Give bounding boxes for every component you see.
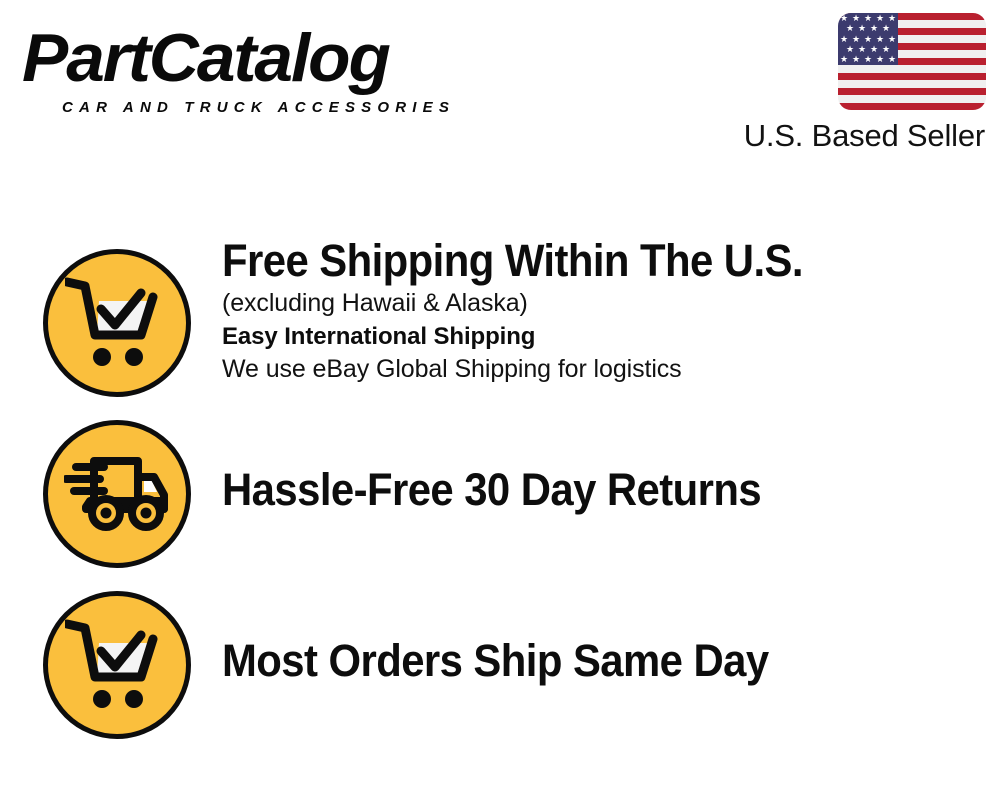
- flag-star: ★: [840, 35, 848, 44]
- flag-star: ★: [882, 45, 890, 54]
- brand-logo: PartCatalog CAR AND TRUCK ACCESSORIES: [22, 22, 492, 117]
- flag-star: ★: [876, 14, 884, 23]
- flag-canton: ★ ★ ★ ★ ★ ★ ★ ★ ★ ★ ★ ★ ★ ★: [838, 13, 898, 65]
- fast-delivery-truck-icon: [43, 420, 191, 568]
- flag-star: ★: [840, 55, 848, 64]
- flag-stripe: [838, 88, 986, 95]
- flag-stripe: [838, 65, 986, 72]
- shopping-cart-check-icon: [43, 249, 191, 397]
- flag-star: ★: [876, 35, 884, 44]
- flag-star-row: ★ ★ ★ ★ ★: [838, 13, 898, 23]
- flag-star: ★: [888, 35, 896, 44]
- feature-icon-wrapper: [43, 591, 191, 739]
- flag-star-row: ★ ★ ★ ★: [838, 44, 898, 54]
- flag-star: ★: [852, 35, 860, 44]
- flag-star: ★: [864, 14, 872, 23]
- flag-star: ★: [870, 24, 878, 33]
- flag-star: ★: [858, 24, 866, 33]
- us-flag-graphic: ★ ★ ★ ★ ★ ★ ★ ★ ★ ★ ★ ★ ★ ★: [838, 13, 986, 110]
- shipping-info-banner: PartCatalog CAR AND TRUCK ACCESSORIES ★ …: [0, 0, 1000, 800]
- flag-star: ★: [876, 55, 884, 64]
- flag-star: ★: [846, 24, 854, 33]
- flag-star: ★: [846, 45, 854, 54]
- flag-stripe: [838, 103, 986, 110]
- flag-star: ★: [864, 35, 872, 44]
- flag-star: ★: [852, 14, 860, 23]
- flag-star: ★: [888, 14, 896, 23]
- feature-sub-detail: We use eBay Global Shipping for logistic…: [222, 353, 980, 386]
- shopping-cart-check-icon: [43, 591, 191, 739]
- brand-tagline: CAR AND TRUCK ACCESSORIES: [62, 100, 455, 116]
- feature-sub-heading: Easy International Shipping: [222, 320, 980, 353]
- feature-headline: Hassle-Free 30 Day Returns: [222, 464, 927, 516]
- flag-star: ★: [870, 45, 878, 54]
- flag-star: ★: [858, 45, 866, 54]
- feature-subline: (excluding Hawaii & Alaska): [222, 287, 980, 320]
- flag-star-row: ★ ★ ★ ★ ★: [838, 34, 898, 44]
- flag-star-row: ★ ★ ★ ★ ★: [838, 55, 898, 65]
- us-flag-icon: ★ ★ ★ ★ ★ ★ ★ ★ ★ ★ ★ ★ ★ ★: [838, 13, 986, 110]
- feature-text-block: Free Shipping Within The U.S. (excluding…: [222, 235, 980, 386]
- flag-stripe: [838, 95, 986, 102]
- us-based-seller-label: U.S. Based Seller: [723, 117, 985, 155]
- brand-wordmark: PartCatalog: [22, 22, 389, 94]
- feature-text-block: Hassle-Free 30 Day Returns: [222, 464, 980, 516]
- flag-stripe: [838, 73, 986, 80]
- flag-star: ★: [882, 24, 890, 33]
- flag-stripe: [838, 80, 986, 87]
- flag-star: ★: [888, 55, 896, 64]
- feature-text-block: Most Orders Ship Same Day: [222, 635, 980, 687]
- feature-icon-wrapper: [43, 420, 191, 568]
- flag-star: ★: [840, 14, 848, 23]
- flag-star: ★: [852, 55, 860, 64]
- feature-headline: Free Shipping Within The U.S.: [222, 235, 927, 287]
- feature-headline: Most Orders Ship Same Day: [222, 635, 927, 687]
- feature-icon-wrapper: [43, 249, 191, 397]
- flag-star-row: ★ ★ ★ ★: [838, 23, 898, 33]
- flag-star: ★: [864, 55, 872, 64]
